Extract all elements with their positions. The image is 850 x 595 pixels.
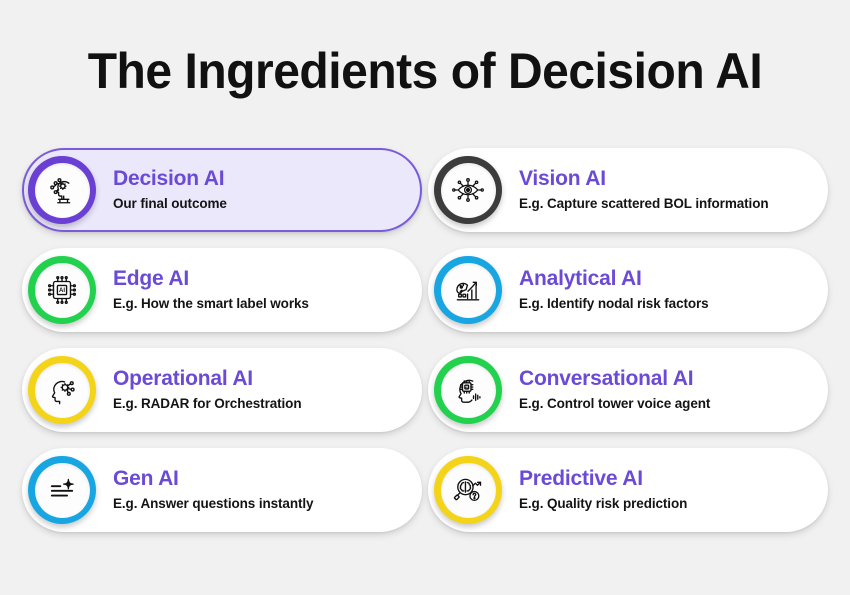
card-subtitle: E.g. Answer questions instantly	[113, 495, 313, 513]
bar-chart-brain-icon	[451, 273, 485, 307]
card-title: Edge AI	[113, 267, 309, 292]
card-text-decision-ai: Decision AI Our final outcome	[113, 167, 241, 212]
card-analytical-ai[interactable]: Analytical AI E.g. Identify nodal risk f…	[428, 248, 828, 332]
icon-badge-decision-ai	[28, 156, 96, 224]
head-circuit-icon	[45, 173, 79, 207]
card-title: Predictive AI	[519, 467, 687, 492]
ingredients-grid: Decision AI Our final outcome	[22, 148, 828, 532]
card-gen-ai[interactable]: Gen AI E.g. Answer questions instantly	[22, 448, 422, 532]
icon-badge-vision-ai	[434, 156, 502, 224]
icon-badge-inner	[35, 463, 90, 518]
card-title: Decision AI	[113, 167, 227, 192]
card-subtitle: E.g. Quality risk prediction	[519, 495, 687, 513]
card-vision-ai[interactable]: Vision AI E.g. Capture scattered BOL inf…	[428, 148, 828, 232]
card-subtitle: E.g. Identify nodal risk factors	[519, 295, 709, 313]
card-title: Gen AI	[113, 467, 313, 492]
card-title: Analytical AI	[519, 267, 709, 292]
card-decision-ai[interactable]: Decision AI Our final outcome	[22, 148, 422, 232]
card-title: Operational AI	[113, 367, 301, 392]
icon-badge-inner: AI	[35, 263, 90, 318]
card-text-vision-ai: Vision AI E.g. Capture scattered BOL inf…	[519, 167, 783, 212]
card-title: Conversational AI	[519, 367, 710, 392]
card-title: Vision AI	[519, 167, 769, 192]
ai-chip-icon: AI	[45, 273, 79, 307]
eye-network-icon	[451, 173, 485, 207]
card-text-gen-ai: Gen AI E.g. Answer questions instantly	[113, 467, 327, 512]
text-sparkle-icon	[45, 473, 79, 507]
icon-badge-inner	[441, 463, 496, 518]
card-text-conversational-ai: Conversational AI E.g. Control tower voi…	[519, 367, 724, 412]
card-text-operational-ai: Operational AI E.g. RADAR for Orchestrat…	[113, 367, 315, 412]
card-edge-ai[interactable]: AI Edge AI E.g. How the smart label work…	[22, 248, 422, 332]
icon-badge-inner	[441, 263, 496, 318]
infographic-canvas: The Ingredients of Decision AI	[0, 0, 850, 595]
card-predictive-ai[interactable]: Predictive AI E.g. Quality risk predicti…	[428, 448, 828, 532]
icon-badge-operational-ai	[28, 356, 96, 424]
card-subtitle: E.g. How the smart label works	[113, 295, 309, 313]
icon-badge-edge-ai: AI	[28, 256, 96, 324]
card-subtitle: Our final outcome	[113, 195, 227, 213]
title-container: The Ingredients of Decision AI	[0, 0, 850, 99]
card-text-analytical-ai: Analytical AI E.g. Identify nodal risk f…	[519, 267, 723, 312]
card-operational-ai[interactable]: Operational AI E.g. RADAR for Orchestrat…	[22, 348, 422, 432]
icon-badge-inner	[441, 163, 496, 218]
head-gear-icon	[45, 373, 79, 407]
head-voicewave-icon: AI	[451, 373, 485, 407]
icon-badge-inner	[35, 363, 90, 418]
icon-badge-conversational-ai: AI	[434, 356, 502, 424]
icon-badge-inner: AI	[441, 363, 496, 418]
card-conversational-ai[interactable]: AI Conversational AI E.g. Control tower …	[428, 348, 828, 432]
card-subtitle: E.g. Control tower voice agent	[519, 395, 710, 413]
svg-text:AI: AI	[59, 288, 65, 294]
card-subtitle: E.g. Capture scattered BOL information	[519, 195, 769, 213]
page-title: The Ingredients of Decision AI	[17, 44, 833, 99]
magnifier-brain-arrow-icon	[451, 473, 485, 507]
icon-badge-analytical-ai	[434, 256, 502, 324]
card-text-edge-ai: Edge AI E.g. How the smart label works	[113, 267, 323, 312]
svg-text:AI: AI	[465, 385, 468, 389]
card-text-predictive-ai: Predictive AI E.g. Quality risk predicti…	[519, 467, 701, 512]
icon-badge-predictive-ai	[434, 456, 502, 524]
card-subtitle: E.g. RADAR for Orchestration	[113, 395, 301, 413]
icon-badge-inner	[35, 163, 90, 218]
icon-badge-gen-ai	[28, 456, 96, 524]
